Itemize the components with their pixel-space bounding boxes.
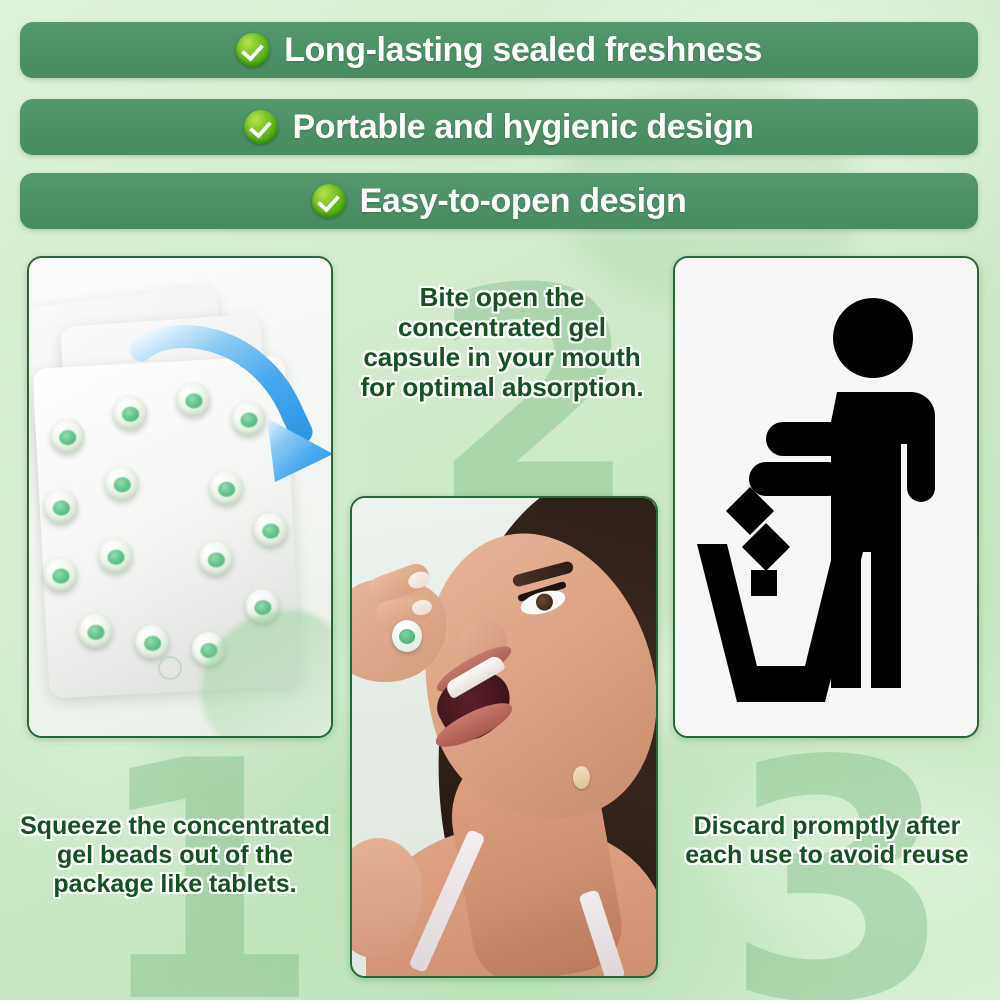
litter-in-bin-sign	[675, 258, 977, 736]
curved-arrow-icon	[125, 322, 333, 532]
step-2-image-panel	[350, 496, 658, 978]
gel-bead	[134, 624, 170, 660]
step-1-caption: Squeeze the concentrated gel beads out o…	[10, 812, 340, 899]
feature-banner-label: Easy-to-open design	[360, 182, 687, 221]
check-circle-icon	[244, 110, 278, 144]
blister-punch-hole	[158, 656, 182, 680]
gel-bead	[198, 541, 234, 577]
gel-bead	[42, 557, 78, 593]
gel-bead	[43, 489, 79, 525]
check-circle-icon	[312, 184, 346, 218]
step-1-image-panel	[27, 256, 333, 738]
gel-bead	[49, 418, 85, 454]
woman-taking-capsule-photo	[352, 498, 656, 976]
feature-banner-label: Long-lasting sealed freshness	[284, 31, 762, 70]
feature-banner-label: Portable and hygienic design	[292, 108, 753, 147]
feature-banner-3: Easy-to-open design	[20, 173, 978, 229]
earring	[573, 766, 590, 789]
blister-pack-photo	[29, 258, 331, 736]
product-infographic: Long-lasting sealed freshness Portable a…	[0, 0, 1000, 1000]
feature-banner-2: Portable and hygienic design	[20, 99, 978, 155]
step-3-image-panel	[673, 256, 979, 738]
gel-bead	[98, 538, 134, 574]
check-circle-icon	[236, 33, 270, 67]
litter-in-bin-icon	[697, 286, 955, 708]
gel-bead	[77, 613, 113, 649]
feature-banner-1: Long-lasting sealed freshness	[20, 22, 978, 78]
step-3-caption: Discard promptly after each use to avoid…	[672, 812, 982, 870]
step-2-caption: Bite open the concentrated gel capsule i…	[352, 282, 652, 403]
gel-capsule	[392, 620, 422, 652]
